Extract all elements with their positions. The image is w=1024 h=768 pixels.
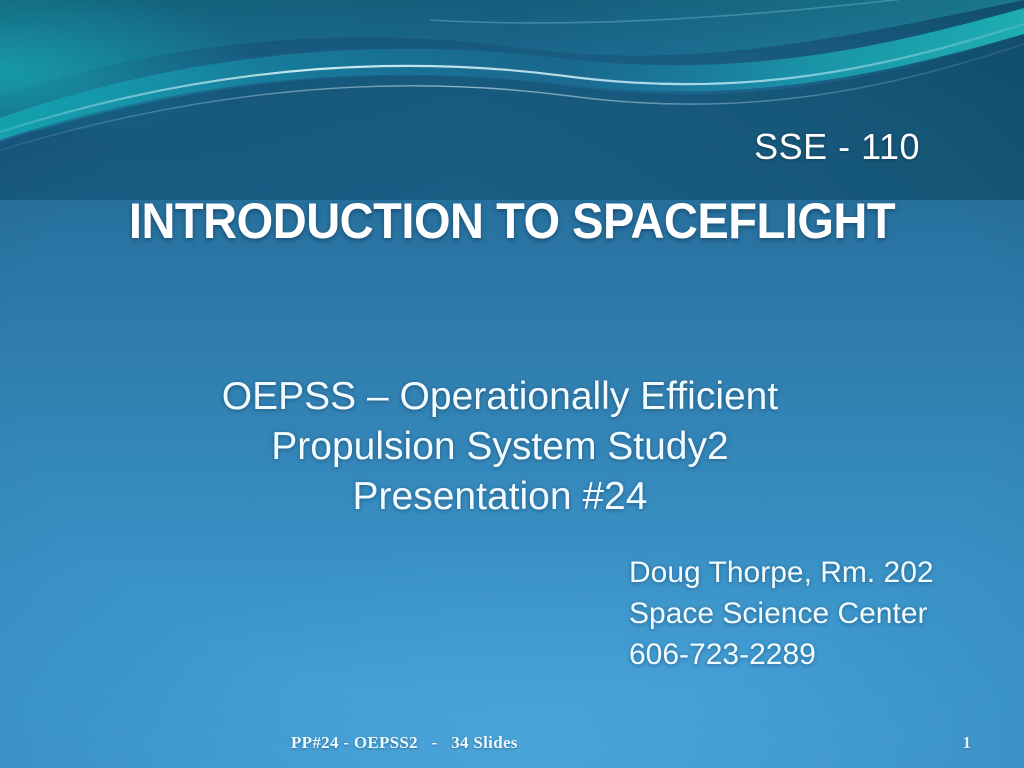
- wave-dark-band: [0, 34, 1024, 200]
- wave-teal-band: [0, 8, 1024, 140]
- course-code: SSE - 110: [0, 126, 920, 168]
- subtitle-block: OEPSS – Operationally Efficient Propulsi…: [110, 372, 890, 522]
- page-title: INTRODUCTION TO SPACEFLIGHT: [91, 192, 933, 250]
- presentation-slide: SSE - 110 INTRODUCTION TO SPACEFLIGHT OE…: [0, 0, 1024, 768]
- contact-block: Doug Thorpe, Rm. 202 Space Science Cente…: [629, 552, 934, 675]
- contact-phone: 606-723-2289: [629, 634, 934, 675]
- subtitle-line-1: OEPSS – Operationally Efficient: [110, 372, 890, 422]
- wave-highlight-line: [0, 24, 1024, 132]
- wave-soft-top: [0, 0, 1024, 96]
- wave-ribbon-decoration: [0, 0, 1024, 200]
- subtitle-line-2: Propulsion System Study2: [110, 422, 890, 472]
- page-number: 1: [0, 733, 971, 753]
- contact-building: Space Science Center: [629, 593, 934, 634]
- teal-tint-decoration: [0, 0, 420, 130]
- wave-arc-top: [430, 0, 1024, 23]
- contact-name-room: Doug Thorpe, Rm. 202: [629, 552, 934, 593]
- subtitle-line-3: Presentation #24: [110, 472, 890, 522]
